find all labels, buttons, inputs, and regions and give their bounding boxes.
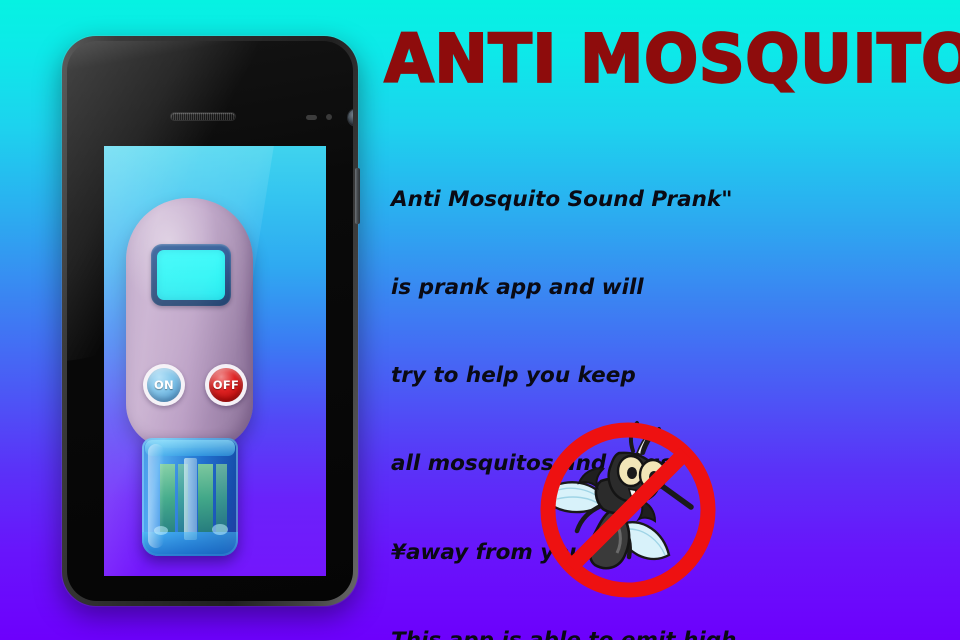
repellent-liquid-bottle [142,438,238,556]
phone-screen[interactable]: ON OFF [104,146,326,576]
phone-mockup: ON OFF [62,36,358,606]
bottle-bubble [212,524,228,535]
power-off-button[interactable]: OFF [205,364,247,406]
power-off-button-label: OFF [209,368,243,402]
page-title: ANTI MOSQUITO [385,24,936,94]
app-promo-banner: ANTI MOSQUITO Anti Mosquito Sound Prank"… [0,0,960,640]
description-line: is prank app and will [391,273,931,302]
phone-glass-panel: ON OFF [67,41,353,601]
bottle-highlight [148,444,164,548]
description-line: Anti Mosquito Sound Prank" [391,185,931,214]
repellent-display-screen [157,250,225,300]
proximity-sensor-icon [326,114,332,120]
repellent-display-bezel [151,244,231,306]
light-sensor-icon [306,115,317,120]
description-line: try to help you keep [391,361,931,390]
power-on-button[interactable]: ON [143,364,185,406]
repellent-device: ON OFF [104,146,326,576]
phone-power-button[interactable] [355,168,360,224]
camera-lens-icon [348,109,353,126]
bottle-label-strip [216,464,227,532]
power-on-button-label: ON [147,368,181,402]
repellent-body [126,198,253,448]
description-line: This app is able to emit high [391,626,931,640]
bottle-label-strip [198,464,213,532]
speaker-grille-icon [171,113,235,120]
no-mosquito-icon [537,419,719,601]
bottle-wick [184,458,197,540]
